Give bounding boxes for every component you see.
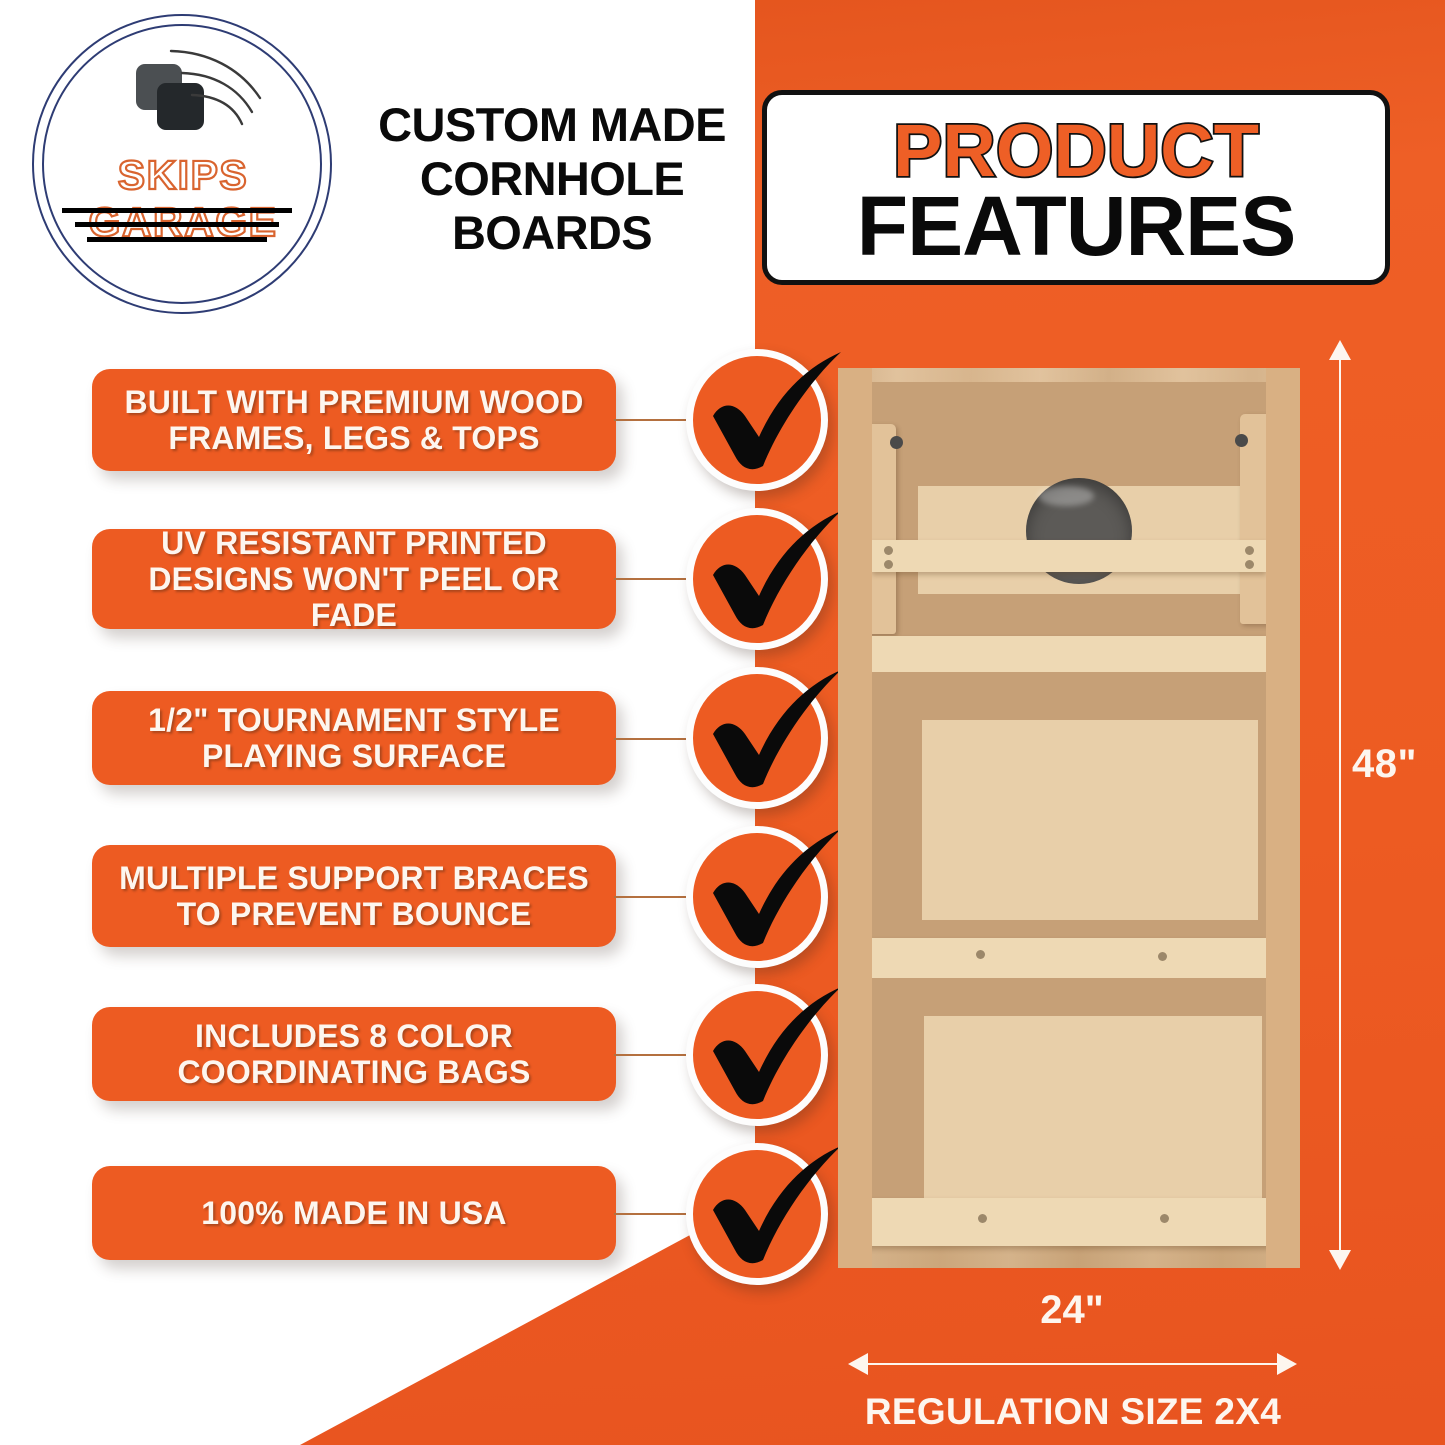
brace-screw bbox=[1245, 560, 1254, 569]
regulation-size-label: REGULATION SIZE 2X4 bbox=[838, 1391, 1308, 1433]
feature-pill[interactable]: BUILT WITH PREMIUM WOOD FRAMES, LEGS & T… bbox=[92, 369, 616, 471]
feature-check-badge bbox=[686, 984, 828, 1126]
support-brace-top bbox=[872, 540, 1266, 572]
feature-check-badge bbox=[686, 349, 828, 491]
width-arrow-right-icon bbox=[1275, 1352, 1297, 1376]
feature-connector-line bbox=[614, 419, 686, 421]
banner-title-features: FEATURES bbox=[857, 185, 1295, 267]
feature-label: MULTIPLE SUPPORT BRACES TO PREVENT BOUNC… bbox=[106, 860, 602, 932]
logo-rule-1 bbox=[62, 208, 292, 213]
support-brace-upper-mid bbox=[872, 636, 1266, 672]
feature-check-badge bbox=[686, 1143, 828, 1285]
feature-label: BUILT WITH PREMIUM WOOD FRAMES, LEGS & T… bbox=[106, 384, 602, 456]
feature-check-badge bbox=[686, 667, 828, 809]
support-brace-bottom bbox=[860, 1198, 1278, 1246]
feature-pill[interactable]: UV RESISTANT PRINTED DESIGNS WON'T PEEL … bbox=[92, 529, 616, 629]
hole-gloss-highlight bbox=[1038, 486, 1094, 506]
feature-connector-line bbox=[614, 896, 686, 898]
banner-title-product: PRODUCT bbox=[893, 113, 1259, 189]
infographic-canvas: SKIPS GARAGE CUSTOM MADE CORNHOLE BOARDS… bbox=[0, 0, 1445, 1445]
leg-bolt-left bbox=[890, 436, 903, 449]
board-middle-panel bbox=[922, 720, 1258, 920]
width-arrow-left-icon bbox=[848, 1352, 870, 1376]
board-frame-left bbox=[838, 368, 872, 1268]
feature-connector-line bbox=[614, 1054, 686, 1056]
feature-pill[interactable]: MULTIPLE SUPPORT BRACES TO PREVENT BOUNC… bbox=[92, 845, 616, 947]
feature-connector-line bbox=[614, 738, 686, 740]
feature-label: 1/2" TOURNAMENT STYLE PLAYING SURFACE bbox=[106, 702, 602, 774]
logo-rule-2 bbox=[75, 222, 279, 227]
motion-arcs-icon bbox=[168, 46, 278, 132]
page-headline: CUSTOM MADE CORNHOLE BOARDS bbox=[352, 98, 752, 260]
support-brace-middle bbox=[872, 938, 1266, 978]
brace-screw bbox=[1160, 1214, 1169, 1223]
height-arrow-bottom-icon bbox=[1328, 1248, 1352, 1270]
board-lower-panel bbox=[924, 1016, 1262, 1202]
width-dimension-label: 24" bbox=[860, 1288, 1284, 1333]
cornhole-board-photo bbox=[838, 368, 1300, 1268]
feature-label: 100% MADE IN USA bbox=[201, 1195, 507, 1231]
height-dimension-line bbox=[1339, 350, 1341, 1266]
logo-rule-3 bbox=[87, 237, 267, 242]
brace-screw bbox=[978, 1214, 987, 1223]
brace-screw bbox=[976, 950, 985, 959]
product-features-banner: PRODUCT FEATURES bbox=[762, 90, 1390, 285]
brace-screw bbox=[1245, 546, 1254, 555]
brand-logo: SKIPS GARAGE bbox=[18, 8, 348, 318]
width-dimension-line bbox=[860, 1363, 1284, 1365]
board-frame-right bbox=[1266, 368, 1300, 1268]
feature-connector-line bbox=[614, 1213, 686, 1215]
brace-screw bbox=[884, 546, 893, 555]
feature-pill[interactable]: INCLUDES 8 COLOR COORDINATING BAGS bbox=[92, 1007, 616, 1101]
feature-pill[interactable]: 1/2" TOURNAMENT STYLE PLAYING SURFACE bbox=[92, 691, 616, 785]
height-dimension-label: 48" bbox=[1352, 742, 1417, 787]
feature-connector-line bbox=[614, 578, 686, 580]
brace-screw bbox=[884, 560, 893, 569]
feature-label: UV RESISTANT PRINTED DESIGNS WON'T PEEL … bbox=[106, 525, 602, 633]
logo-wordmark: SKIPS GARAGE bbox=[18, 152, 348, 246]
leg-bolt-right bbox=[1235, 434, 1248, 447]
height-arrow-top-icon bbox=[1328, 340, 1352, 362]
feature-check-badge bbox=[686, 826, 828, 968]
brace-screw bbox=[1158, 952, 1167, 961]
feature-pill[interactable]: 100% MADE IN USA bbox=[92, 1166, 616, 1260]
feature-check-badge bbox=[686, 508, 828, 650]
feature-label: INCLUDES 8 COLOR COORDINATING BAGS bbox=[106, 1018, 602, 1090]
